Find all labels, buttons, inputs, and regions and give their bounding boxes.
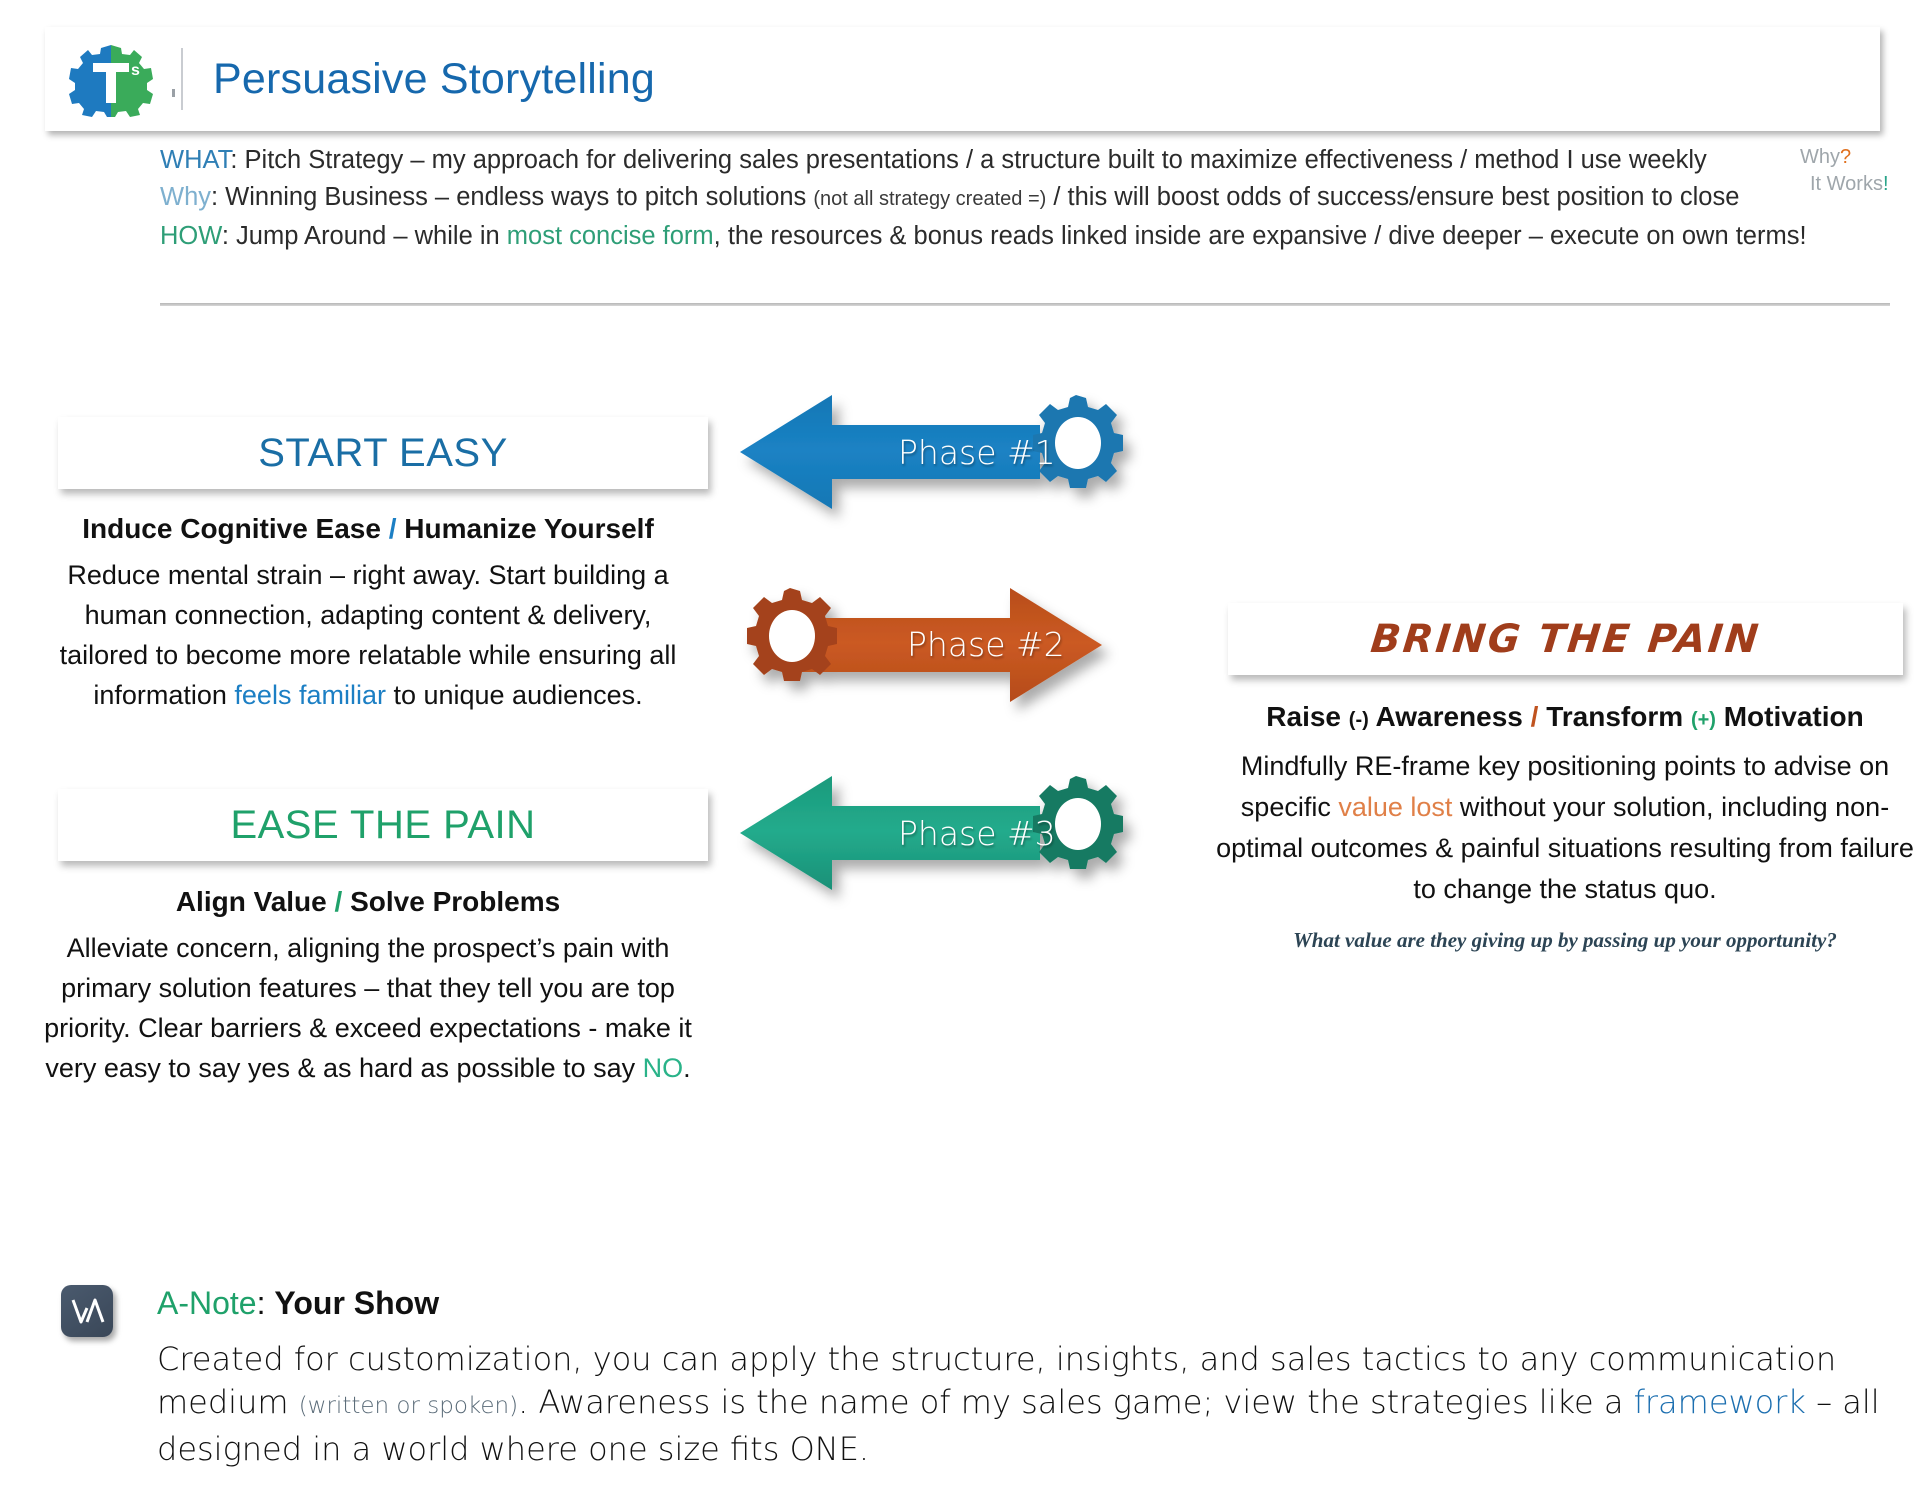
intro-line-why: Why: Winning Business – endless ways to … [160,179,1890,218]
intro-text-why-a: : Winning Business – endless ways to pit… [211,183,813,211]
phase-arrow-2-label: Phase #2 [907,625,1065,664]
phase-arrow-1: Phase #1 [740,385,1160,520]
why-works-line1: Why [1800,146,1840,168]
anote-body-b: . Awareness is the name of my sales game… [518,1383,1634,1421]
plaque-start-easy-label: START EASY [258,431,508,476]
bring-pain-sub-c: Transform [1546,701,1683,732]
phase-arrow-3-label: Phase #3 [898,814,1056,853]
plaque-bring-the-pain: BRING THE PAIN [1228,603,1903,675]
logo-separator-dot [172,89,175,97]
start-easy-highlight: feels familiar [234,680,386,710]
why-works-question-mark: ? [1840,146,1851,168]
start-easy-sub-sep: / [381,513,404,544]
anote-colon: : [257,1285,275,1321]
header-divider [181,48,183,110]
intro-key-why: Why [160,183,211,211]
gear-logo-icon: s [63,41,159,117]
start-easy-sub-a: Induce Cognitive Ease [82,513,381,544]
phase-arrow-3: Phase #3 [740,766,1160,901]
anote-highlight-framework: framework [1634,1383,1806,1421]
ease-pain-highlight: NO [643,1053,684,1083]
plaque-ease-the-pain-label: EASE THE PAIN [230,803,535,848]
why-it-works-note: Why? It Works! [1800,144,1920,198]
phase-arrow-2: Phase #2 [742,578,1162,713]
bring-pain-sub-sep: / [1531,701,1539,732]
page-title: Persuasive Storytelling [213,55,655,104]
ease-pain-sub-a: Align Value [176,886,327,917]
intro-highlight-concise: most concise form [507,222,714,250]
anote-label: A-Note [157,1285,257,1321]
bring-pain-sub-b: Awareness [1376,701,1523,732]
va-monogram-icon [61,1285,113,1337]
plaque-bring-the-pain-label: BRING THE PAIN [1368,617,1762,662]
intro-paragraph: WHAT: Pitch Strategy – my approach for d… [160,142,1890,255]
intro-key-how: HOW [160,222,222,250]
why-works-line2: It Works [1810,173,1883,195]
bring-pain-sub-d: Motivation [1724,701,1864,732]
ease-pain-body: Alleviate concern, aligning the prospect… [38,928,698,1088]
anote-topic: Your Show [274,1285,439,1321]
intro-text-how-a: : Jump Around – while in [222,222,507,250]
ease-pain-body-b: . [683,1053,691,1083]
svg-text:s: s [131,62,140,79]
intro-text-how-b: , the resources & bonus reads linked ins… [714,222,1807,250]
intro-paren-why: (not all strategy created =) [813,188,1046,210]
intro-line-how: HOW: Jump Around – while in most concise… [160,218,1890,255]
bring-pain-plus-sign: (+) [1691,709,1716,731]
intro-line-what: WHAT: Pitch Strategy – my approach for d… [160,142,1890,179]
start-easy-body-b: to unique audiences. [386,680,643,710]
bring-pain-sub-a: Raise [1266,701,1341,732]
intro-divider [160,303,1890,306]
header-card: s Persuasive Storytelling [45,27,1880,131]
block-ease-the-pain: Align Value / Solve Problems Alleviate c… [38,885,698,1088]
block-start-easy: Induce Cognitive Ease / Humanize Yoursel… [38,512,698,715]
ease-pain-sub-sep: / [327,886,350,917]
plaque-start-easy: START EASY [58,417,708,489]
intro-key-what: WHAT [160,146,230,174]
plaque-ease-the-pain: EASE THE PAIN [58,789,708,861]
why-works-exclaim: ! [1883,173,1889,195]
bring-pain-body: Mindfully RE-frame key positioning point… [1215,746,1915,910]
ease-pain-subtitle: Align Value / Solve Problems [38,885,698,919]
phase-arrow-1-label: Phase #1 [898,433,1056,472]
block-bring-the-pain: Raise (-) Awareness / Transform (+) Moti… [1215,700,1915,953]
ease-pain-body-a: Alleviate concern, aligning the prospect… [44,933,692,1083]
anote-heading: A-Note: Your Show [157,1285,439,1322]
bring-pain-highlight: value lost [1338,792,1452,822]
anote-body-paren: (written or spoken) [299,1393,518,1419]
bring-pain-question: What value are they giving up by passing… [1215,928,1915,953]
start-easy-subtitle: Induce Cognitive Ease / Humanize Yoursel… [38,512,698,546]
start-easy-sub-b: Humanize Yourself [404,513,653,544]
ease-pain-sub-b: Solve Problems [350,886,560,917]
slide-canvas: s Persuasive Storytelling WHAT: Pitch St… [0,0,1920,1489]
intro-text-why-b: / this will boost odds of success/ensure… [1046,183,1739,211]
bring-pain-subtitle: Raise (-) Awareness / Transform (+) Moti… [1215,700,1915,737]
start-easy-body: Reduce mental strain – right away. Start… [38,555,698,715]
bring-pain-minus-sign: (-) [1349,709,1369,731]
anote-body: Created for customization, you can apply… [157,1338,1917,1471]
intro-text-what: : Pitch Strategy – my approach for deliv… [230,146,1706,174]
